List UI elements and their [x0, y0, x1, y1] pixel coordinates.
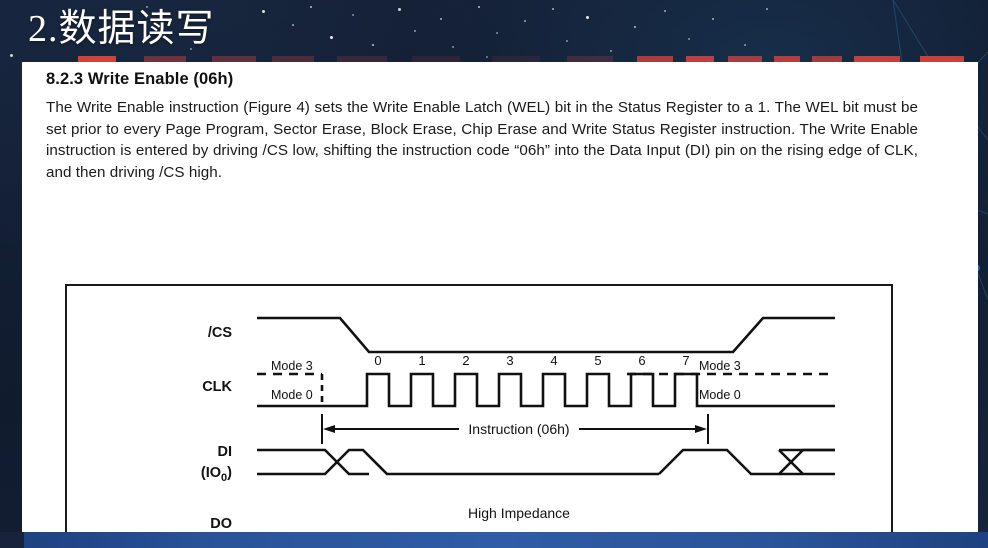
- slide-canvas: 2.数据读写 8.2.3 Write Enable (06h) The Writ…: [0, 0, 988, 548]
- signal-label-clk: CLK: [202, 379, 232, 395]
- clk-cycle-number: 1: [418, 353, 425, 368]
- timing-diagram-figure: /CS CLK Mode 3 Mode 0 Mode 3 Mode 0: [65, 284, 893, 548]
- mode-label-left-bottom: Mode 0: [271, 388, 313, 402]
- section-paragraph: The Write Enable instruction (Figure 4) …: [46, 97, 918, 183]
- signal-label-do: DO: [210, 516, 232, 532]
- clk-cycle-number: 3: [506, 353, 513, 368]
- timing-diagram-svg-wrapper: /CS CLK Mode 3 Mode 0 Mode 3 Mode 0: [67, 286, 891, 548]
- waveform-di-right-top: [659, 450, 835, 474]
- document-panel: 8.2.3 Write Enable (06h) The Write Enabl…: [22, 62, 978, 532]
- signal-label-cs: /CS: [208, 325, 233, 341]
- mode-label-left-top: Mode 3: [271, 359, 313, 373]
- clk-cycle-number: 6: [638, 353, 645, 368]
- span-arrowhead-right: [695, 425, 707, 433]
- span-label: Instruction (06h): [468, 421, 569, 437]
- mode-label-right-bottom: Mode 0: [699, 388, 741, 402]
- clk-cycle-number: 2: [462, 353, 469, 368]
- span-arrowhead-left: [323, 425, 335, 433]
- document-text-block: 8.2.3 Write Enable (06h) The Write Enabl…: [46, 62, 918, 183]
- footer-bar: [0, 532, 988, 548]
- slide-title-bar: 2.数据读写: [28, 2, 215, 56]
- signal-label-di-sub: (IO0): [201, 465, 232, 484]
- section-heading: 8.2.3 Write Enable (06h): [46, 70, 918, 89]
- clk-cycle-number: 7: [682, 353, 689, 368]
- mode-label-right-top: Mode 3: [699, 359, 741, 373]
- footer-left-cap: [0, 532, 24, 548]
- clk-cycle-number: 5: [594, 353, 601, 368]
- page-title: 2.数据读写: [28, 10, 215, 48]
- signal-label-di: DI: [218, 444, 233, 460]
- waveform-di-bottom-left: [257, 450, 659, 474]
- instruction-span-measure: Instruction (06h): [322, 414, 708, 444]
- waveform-cs: [257, 318, 835, 352]
- clk-cycle-number: 4: [550, 353, 557, 368]
- waveform-clk: [322, 374, 835, 406]
- timing-diagram: /CS CLK Mode 3 Mode 0 Mode 3 Mode 0: [67, 286, 891, 548]
- do-state-label: High Impedance: [468, 505, 570, 521]
- clk-cycle-number: 0: [374, 353, 381, 368]
- waveform-di-top-left: [257, 450, 369, 474]
